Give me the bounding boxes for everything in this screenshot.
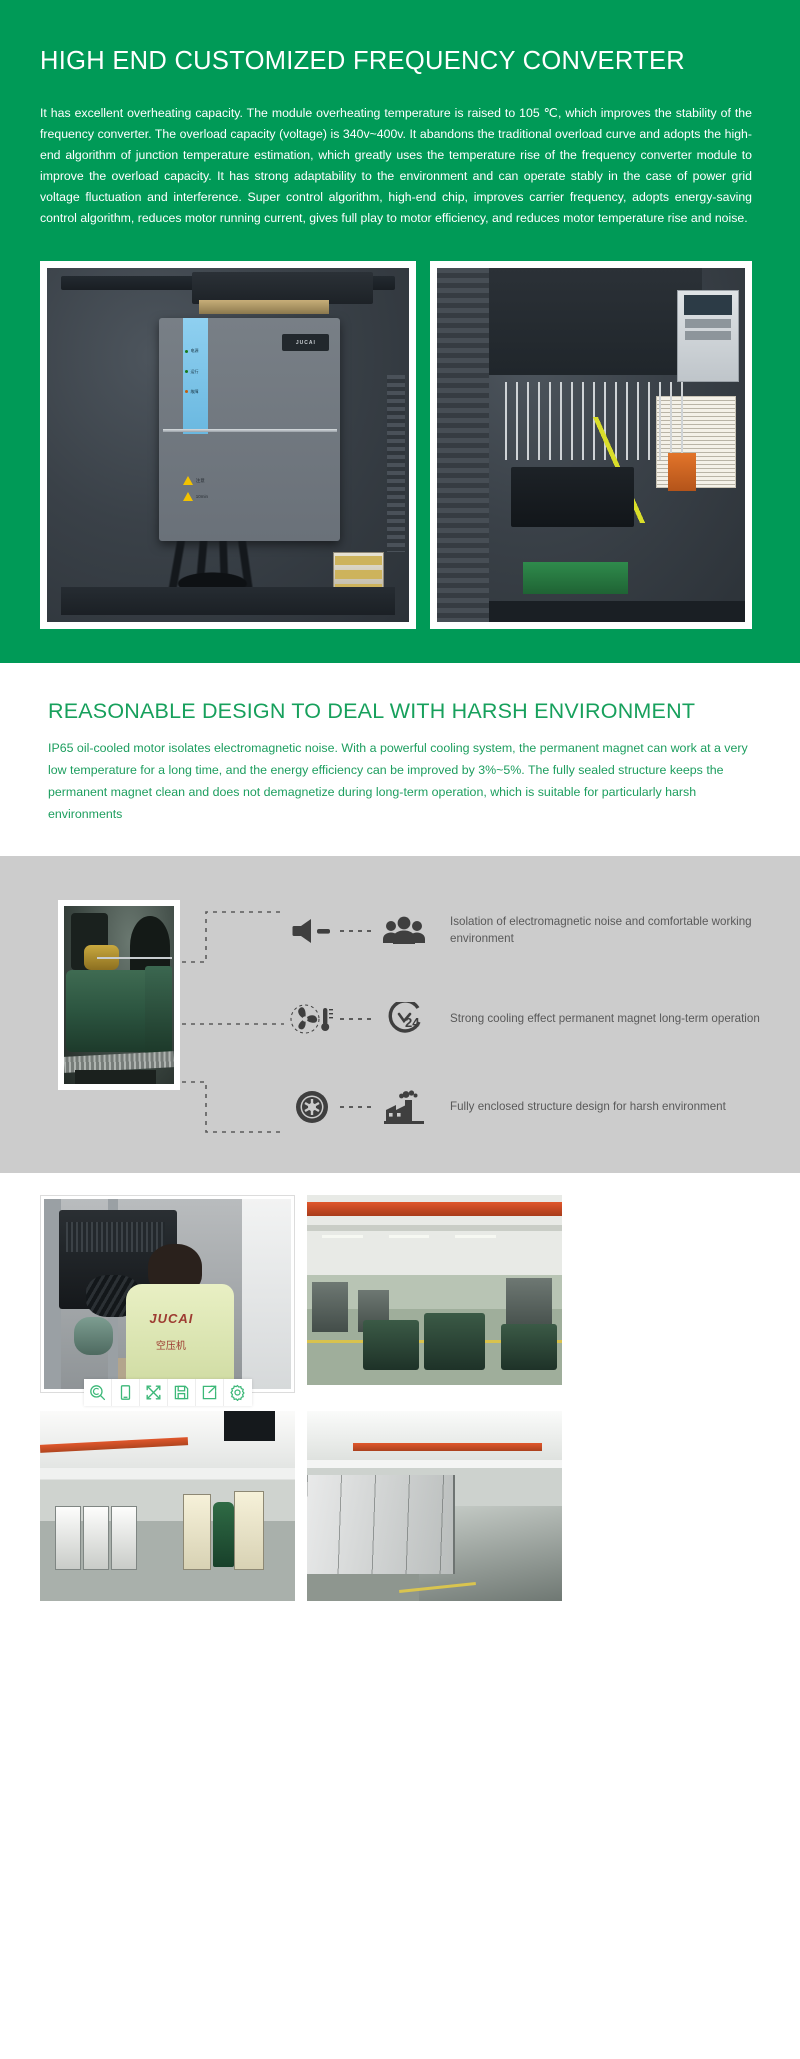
led-run-label: 运行	[190, 369, 198, 375]
hero-photo-2-frame[interactable]	[430, 261, 752, 629]
feature-text-noise: Isolation of electromagnetic noise and c…	[450, 914, 760, 947]
cabinet-upper-panel	[489, 268, 702, 374]
technician-shirt: JUCAI 空压机	[126, 1284, 235, 1389]
share-icon[interactable]	[196, 1379, 224, 1406]
gallery-item-workshop[interactable]	[307, 1195, 562, 1393]
warehouse-photo	[307, 1411, 562, 1601]
warning-triangle-icon	[183, 492, 193, 501]
green-motor	[74, 1317, 114, 1355]
overhead-crane-beam	[307, 1202, 562, 1215]
open-cabinet-photo	[437, 268, 745, 622]
oil-cooled-motor-photo	[64, 906, 174, 1084]
frequency-converter-unit: JUCAI 电源 运行 故障 注意	[159, 318, 340, 541]
intro-section: REASONABLE DESIGN TO DEAL WITH HARSH ENV…	[0, 663, 800, 855]
dotted-link	[340, 930, 376, 932]
motor-shaft-rod	[97, 957, 172, 959]
ceiling-lamp	[389, 1235, 430, 1238]
intro-body-text: IP65 oil-cooled motor isolates electroma…	[48, 738, 748, 825]
led-power-dot	[185, 350, 188, 353]
equipment-cabinet	[312, 1282, 348, 1331]
green-terminal-strip	[523, 562, 628, 594]
warning-caution-label: 注意	[196, 478, 205, 484]
dotted-link	[340, 1106, 376, 1108]
compressor-machine	[424, 1313, 485, 1370]
fan-thermometer-icon	[284, 994, 340, 1044]
led-fault-dot	[185, 390, 188, 393]
cabinet-vent-panel	[437, 268, 489, 622]
clock-24-label: 24	[405, 1015, 420, 1030]
packaged-compressor-row	[307, 1475, 455, 1574]
factory-icon	[376, 1082, 432, 1132]
cabinet-floor	[489, 601, 745, 622]
led-power-label: 电源	[190, 348, 198, 354]
clock-24-icon: 24	[376, 994, 432, 1044]
hero-section: HIGH END CUSTOMIZED FREQUENCY CONVERTER …	[0, 0, 800, 663]
led-run-dot	[185, 370, 188, 373]
photo-gallery: JUCAI 空压机	[0, 1173, 800, 1645]
led-power: 电源	[185, 347, 205, 356]
led-fault-label: 故障	[190, 389, 198, 395]
warning-wait-time: 10min	[183, 492, 208, 501]
converter-brand-plate: JUCAI	[282, 334, 329, 352]
hero-photo-row: JUCAI 电源 运行 故障 注意	[40, 261, 760, 629]
white-cabinet	[83, 1506, 109, 1571]
hero-photo-1-frame[interactable]: JUCAI 电源 运行 故障 注意	[40, 261, 416, 629]
wall-monitor	[224, 1411, 275, 1441]
gallery-item-warehouse[interactable]	[307, 1411, 562, 1601]
gallery-item-test-room[interactable]	[40, 1411, 295, 1601]
feature-text-enclosure: Fully enclosed structure design for hars…	[450, 1099, 726, 1115]
motor-base	[75, 1070, 156, 1084]
cabinet-gold-strip	[199, 300, 329, 314]
converter-cabinet-photo: JUCAI 电源 运行 故障 注意	[47, 268, 409, 622]
control-panel	[183, 1494, 211, 1570]
feature-row-enclosure: Fully enclosed structure design for hars…	[284, 1078, 760, 1136]
features-section: Isolation of electromagnetic noise and c…	[0, 856, 800, 1173]
cabinet-floor	[61, 587, 394, 615]
white-cabinet	[55, 1506, 81, 1571]
zoom-icon[interactable]	[84, 1379, 112, 1406]
save-icon[interactable]	[168, 1379, 196, 1406]
warning-wait-label: 10min	[196, 494, 208, 499]
overhead-crane-beam	[353, 1443, 542, 1451]
hero-body-text: It has excellent overheating capacity. T…	[40, 103, 752, 230]
motor-body	[66, 970, 156, 1052]
technician-photo: JUCAI 空压机	[44, 1199, 291, 1389]
ceiling-rail	[307, 1225, 562, 1231]
compressor-machine	[501, 1324, 557, 1370]
compressor-machine	[363, 1320, 419, 1369]
cabinet-top-bracket	[192, 272, 373, 304]
compressor-vent	[66, 1222, 165, 1252]
gallery-item-technician[interactable]: JUCAI 空压机	[40, 1195, 295, 1393]
pressure-tank	[213, 1502, 233, 1567]
test-room-photo	[40, 1411, 295, 1601]
mobile-preview-icon[interactable]	[112, 1379, 140, 1406]
hero-title: HIGH END CUSTOMIZED FREQUENCY CONVERTER	[40, 46, 760, 77]
ceiling-lamp	[322, 1235, 363, 1238]
white-cabinet	[111, 1506, 137, 1571]
feature-row-cooling: 24 Strong cooling effect permanent magne…	[284, 990, 760, 1048]
fullscreen-icon[interactable]	[140, 1379, 168, 1406]
motor-photo-frame[interactable]	[58, 900, 180, 1090]
feature-row-noise: Isolation of electromagnetic noise and c…	[284, 902, 760, 960]
feature-rows: Isolation of electromagnetic noise and c…	[284, 886, 760, 1136]
workshop-photo	[307, 1195, 562, 1385]
image-toolbar[interactable]	[84, 1379, 252, 1406]
warning-triangle-icon	[183, 476, 193, 485]
led-fault: 故障	[185, 387, 205, 396]
shirt-sub-text: 空压机	[156, 1337, 186, 1352]
led-run: 运行	[185, 367, 205, 376]
control-module	[511, 467, 634, 527]
tire-wheel-icon	[284, 1082, 340, 1132]
ceiling-lamp	[455, 1235, 496, 1238]
cabinet-side-rail	[387, 375, 405, 552]
people-group-icon	[376, 906, 432, 956]
connector-lines	[180, 896, 284, 1146]
converter-blue-stripe	[183, 318, 208, 434]
gear-icon[interactable]	[224, 1379, 252, 1406]
motor-flange	[145, 966, 171, 1055]
background-wall	[242, 1199, 291, 1389]
converter-keypad	[677, 290, 739, 382]
converter-panel-split	[163, 429, 337, 432]
intro-title: REASONABLE DESIGN TO DEAL WITH HARSH ENV…	[48, 699, 752, 724]
speaker-mute-icon	[284, 906, 340, 956]
orange-terminal	[668, 453, 696, 492]
shirt-brand-text: JUCAI	[149, 1311, 193, 1326]
feature-text-cooling: Strong cooling effect permanent magnet l…	[450, 1011, 760, 1027]
warning-caution: 注意	[183, 476, 205, 485]
ceiling	[307, 1411, 562, 1460]
control-panel	[234, 1491, 265, 1571]
dotted-link	[340, 1018, 376, 1020]
